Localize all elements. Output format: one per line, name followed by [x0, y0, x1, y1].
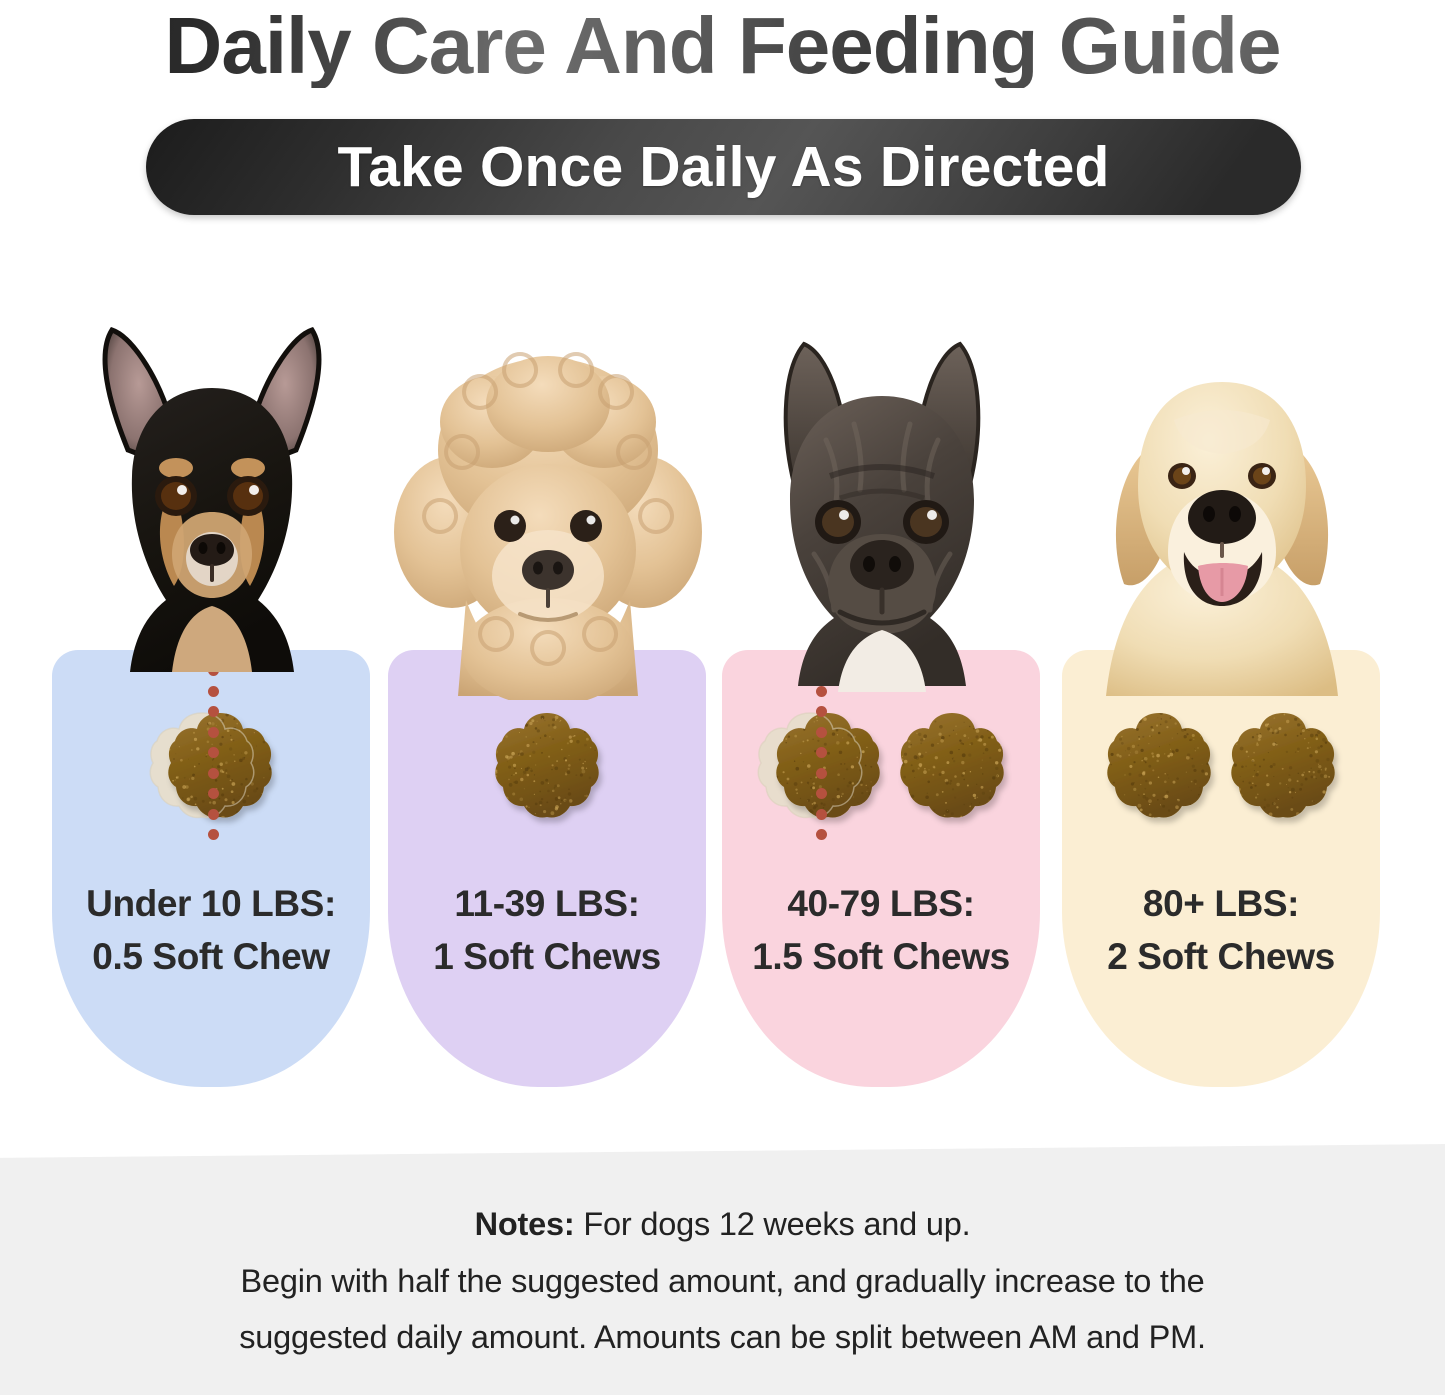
dose-panel: 11-39 LBS:1 Soft Chews — [388, 650, 706, 1087]
divider-dot — [208, 706, 219, 717]
chew-shape — [1229, 709, 1337, 827]
dosage-card-chihuahua: Under 10 LBS:0.5 Soft Chew — [52, 300, 372, 1100]
half-chew-divider-dotted-line — [816, 665, 827, 865]
divider-dot — [816, 788, 827, 799]
dog-photo-golden-retriever — [1062, 300, 1382, 700]
dose-text: 80+ LBS:2 Soft Chews — [1062, 878, 1380, 983]
dose-panel: 80+ LBS:2 Soft Chews — [1062, 650, 1380, 1087]
chew-illustrations — [388, 650, 706, 880]
notes-line-1-rest: For dogs 12 weeks and up. — [575, 1206, 971, 1242]
chew-shape — [1105, 709, 1213, 827]
chew-shape — [493, 709, 601, 827]
dog-photo-poodle — [388, 300, 708, 700]
divider-dot — [208, 747, 219, 758]
chew-whole — [493, 709, 601, 821]
notes-text-block: Notes: For dogs 12 weeks and up. Begin w… — [0, 1196, 1445, 1366]
subtitle-pill-badge: Take Once Daily As Directed — [146, 119, 1301, 215]
dosage-cards-row: Under 10 LBS:0.5 Soft Chew — [0, 300, 1445, 1100]
dose-amount-label: 2 Soft Chews — [1062, 931, 1380, 984]
chew-whole — [898, 709, 1006, 821]
notes-line-3: suggested daily amount. Amounts can be s… — [0, 1309, 1445, 1366]
dosage-card-golden-retriever: 80+ LBS:2 Soft Chews — [1062, 300, 1382, 1100]
dog-photo-golden-retriever — [1062, 300, 1382, 700]
divider-dot — [816, 747, 827, 758]
notes-label: Notes: — [475, 1206, 575, 1242]
divider-dot — [208, 829, 219, 840]
divider-dot — [816, 768, 827, 779]
chew-illustrations — [52, 650, 370, 880]
dog-photo-chihuahua — [52, 300, 372, 700]
dose-text: Under 10 LBS:0.5 Soft Chew — [52, 878, 370, 983]
divider-dot — [816, 727, 827, 738]
divider-dot — [208, 788, 219, 799]
subtitle-pill-label: Take Once Daily As Directed — [337, 134, 1109, 200]
divider-dot — [816, 809, 827, 820]
page-title: Daily Care And Feeding Guide — [0, 4, 1445, 88]
dog-photo-poodle — [388, 300, 708, 700]
dose-amount-label: 1 Soft Chews — [388, 931, 706, 984]
dose-text: 11-39 LBS:1 Soft Chews — [388, 878, 706, 983]
weight-range-label: Under 10 LBS: — [52, 878, 370, 931]
divider-dot — [208, 768, 219, 779]
weight-range-label: 11-39 LBS: — [388, 878, 706, 931]
chew-whole — [1229, 709, 1337, 821]
chew-half — [756, 709, 882, 821]
dosage-card-poodle: 11-39 LBS:1 Soft Chews — [388, 300, 708, 1100]
dose-panel: 40-79 LBS:1.5 Soft Chews — [722, 650, 1040, 1087]
divider-dot — [816, 665, 827, 676]
dosage-card-french-bulldog: 40-79 LBS:1.5 Soft Chews — [722, 300, 1042, 1100]
chew-illustrations — [722, 650, 1040, 880]
chew-half — [148, 709, 274, 821]
weight-range-label: 80+ LBS: — [1062, 878, 1380, 931]
half-chew-divider-dotted-line — [208, 665, 219, 865]
dog-photo-french-bulldog — [722, 300, 1042, 700]
notes-line-1: Notes: For dogs 12 weeks and up. — [0, 1196, 1445, 1253]
divider-dot — [208, 686, 219, 697]
dog-photo-french-bulldog — [722, 300, 1042, 700]
dose-amount-label: 0.5 Soft Chew — [52, 931, 370, 984]
chew-shape — [898, 709, 1006, 827]
dose-panel: Under 10 LBS:0.5 Soft Chew — [52, 650, 370, 1087]
divider-dot — [208, 727, 219, 738]
divider-dot — [816, 829, 827, 840]
divider-dot — [208, 809, 219, 820]
divider-dot — [816, 706, 827, 717]
dose-text: 40-79 LBS:1.5 Soft Chews — [722, 878, 1040, 983]
chew-whole — [1105, 709, 1213, 821]
feeding-guide-infographic: Daily Care And Feeding Guide Take Once D… — [0, 0, 1445, 1395]
divider-dot — [208, 665, 219, 676]
notes-line-2: Begin with half the suggested amount, an… — [0, 1253, 1445, 1310]
divider-dot — [816, 686, 827, 697]
dog-photo-chihuahua — [52, 300, 372, 700]
dose-amount-label: 1.5 Soft Chews — [722, 931, 1040, 984]
chew-illustrations — [1062, 650, 1380, 880]
weight-range-label: 40-79 LBS: — [722, 878, 1040, 931]
